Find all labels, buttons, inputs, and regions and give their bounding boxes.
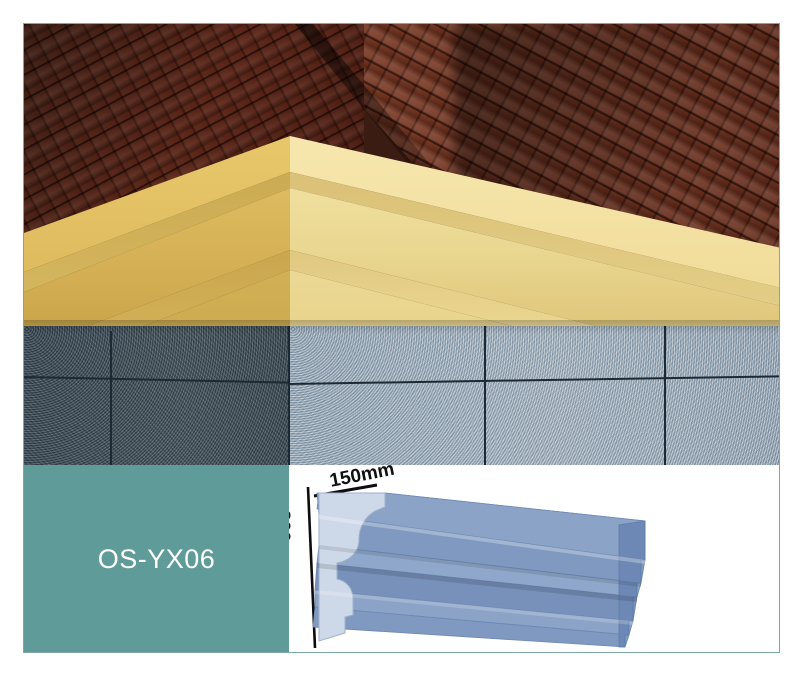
card-stage: OS-YX06 150mm 300mm: [24, 24, 779, 652]
wall-grout-vertical: [484, 326, 486, 465]
cornice-band-5-left: [24, 136, 290, 351]
stone-tile-wall: [24, 326, 779, 465]
exterior-cornice-photo: [24, 24, 779, 465]
wall-face-left: [24, 326, 290, 465]
wall-face-right: [290, 326, 779, 465]
cornice-band-5: [24, 136, 779, 351]
product-code-panel: OS-YX06: [24, 465, 289, 652]
product-image-card: OS-YX06 150mm 300mm: [23, 23, 780, 653]
wall-grout-corner: [288, 326, 290, 465]
cornice-molding: [24, 136, 779, 351]
cornice-cast-shadow: [24, 320, 779, 334]
profile-svg: [289, 465, 779, 652]
cornice-band-5-right: [24, 136, 779, 351]
wall-grout-vertical: [664, 326, 666, 465]
wall-grout-vertical: [110, 331, 112, 465]
bottom-info-row: OS-YX06 150mm 300mm: [24, 465, 779, 652]
cornice-profile-drawing: 150mm 300mm: [289, 465, 779, 652]
product-code-text: OS-YX06: [98, 544, 216, 575]
